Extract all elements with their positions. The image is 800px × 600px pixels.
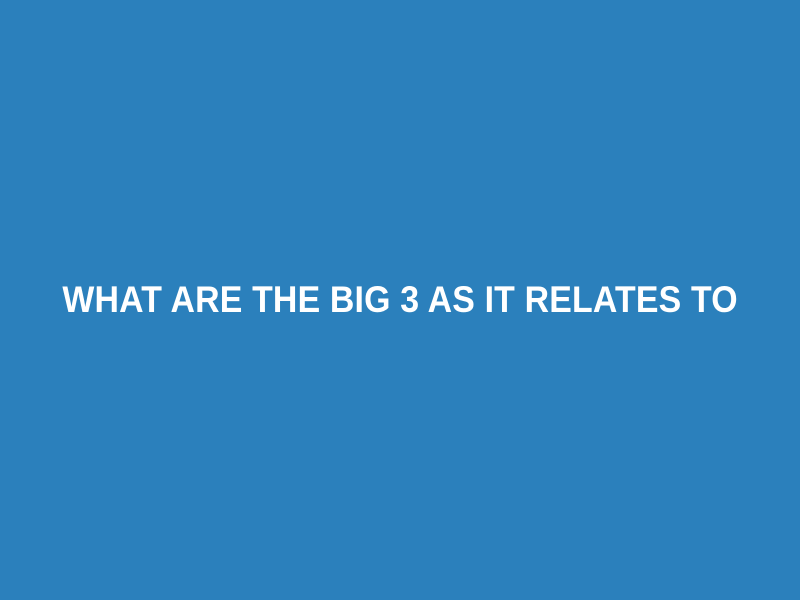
title-band: WHAT ARE THE BIG 3 AS IT RELATES TO [0, 253, 800, 347]
featured-image-title-card: WHAT ARE THE BIG 3 AS IT RELATES TO [0, 0, 800, 600]
page-title: WHAT ARE THE BIG 3 AS IT RELATES TO [62, 278, 737, 322]
